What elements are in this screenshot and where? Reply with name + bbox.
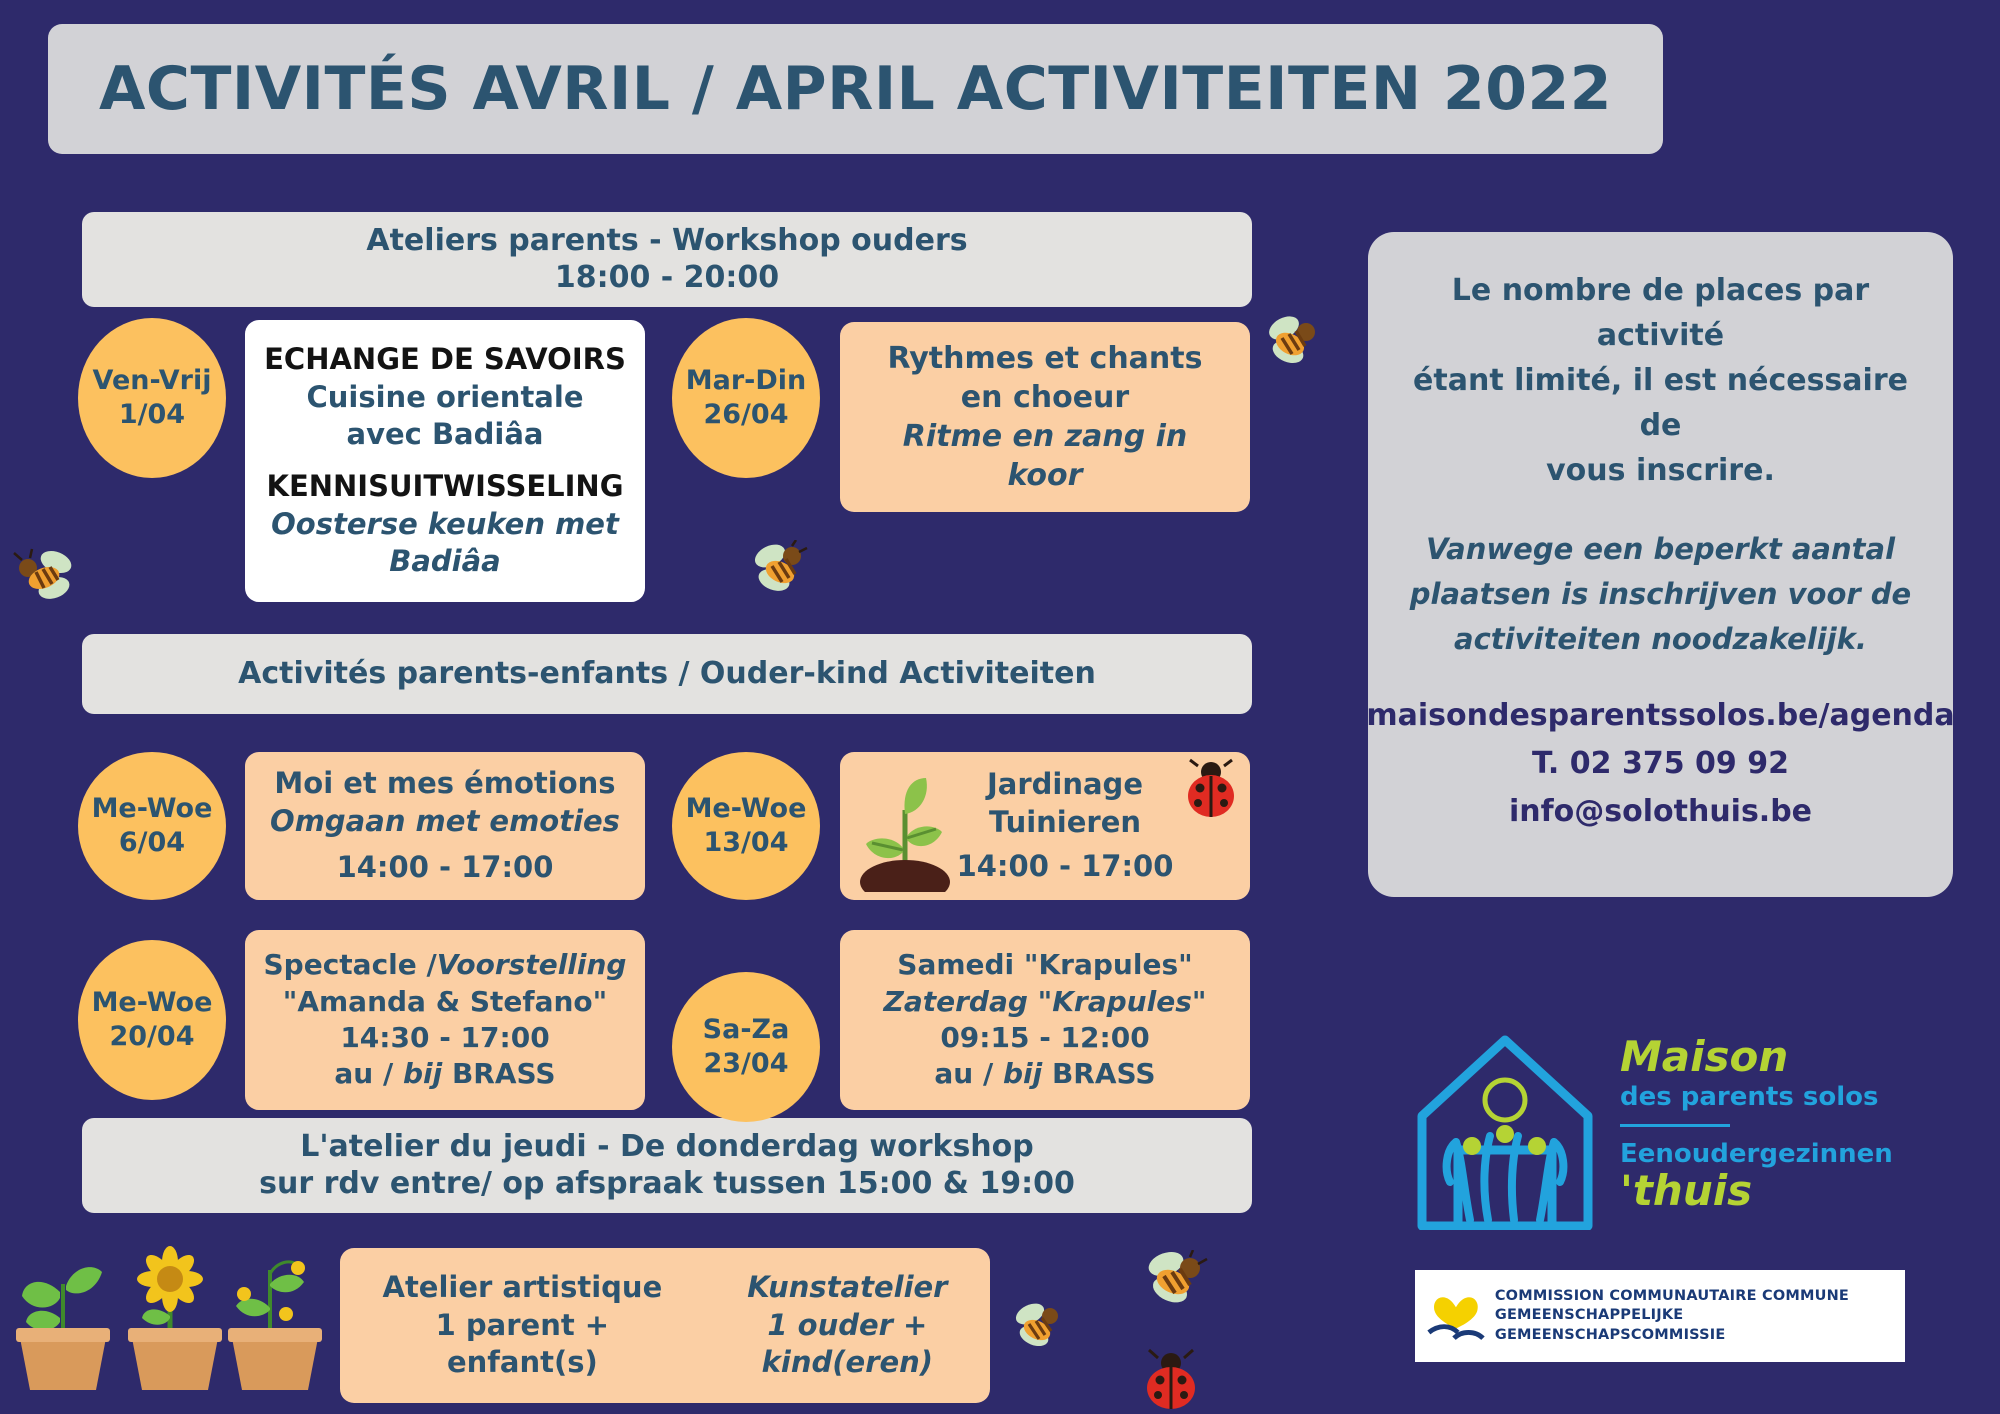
card-emotions-nl-line1: Omgaan met emoties: [270, 803, 620, 841]
card-artistique-nl-col: Kunstatelier 1 ouder + kind(eren): [747, 1269, 947, 1382]
card-rythmes-nl-line1: Ritme en zang in: [903, 417, 1188, 456]
card-artistique-fr-line3: enfant(s): [447, 1344, 598, 1382]
card-artistique-nl-line2: 1 ouder +: [767, 1307, 927, 1345]
card-jardinage-time: 14:00 - 17:00: [957, 848, 1174, 886]
card-krapules-fr-line1: Samedi "Krapules": [897, 947, 1192, 983]
info-fr-line2: étant limité, il est nécessaire de: [1394, 358, 1927, 448]
section-header-jeudi-line1: L'atelier du jeudi - De donderdag worksh…: [300, 1129, 1034, 1166]
info-panel-fr: Le nombre de places par activité étant l…: [1394, 268, 1927, 493]
info-fr-line3: vous inscrire.: [1394, 448, 1927, 493]
card-spectacle-nl-inline: Voorstelling: [437, 948, 627, 981]
info-nl-line2: plaatsen is inschrijven voor de: [1410, 572, 1911, 617]
ccc-logo-text: COMMISSION COMMUNAUTAIRE COMMUNE GEMEENS…: [1495, 1287, 1905, 1346]
date-badge-day: Me-Woe: [92, 792, 213, 826]
card-krapules: Samedi "Krapules" Zaterdag "Krapules" 09…: [840, 930, 1250, 1110]
ccc-emblem-icon: [1425, 1285, 1487, 1347]
card-rythmes-nl-line2: koor: [1008, 456, 1083, 495]
date-badge-date: 13/04: [703, 826, 788, 860]
card-spectacle-venue-nl: bij: [403, 1057, 442, 1090]
date-badge-23-04: Sa-Za 23/04: [672, 972, 820, 1122]
section-header-parents: Ateliers parents - Workshop ouders 18:00…: [82, 212, 1252, 307]
bee-icon: [752, 540, 816, 598]
date-badge-date: 6/04: [119, 826, 185, 860]
ccc-line1: COMMISSION COMMUNAUTAIRE COMMUNE: [1495, 1287, 1905, 1307]
card-emotions-fr-line1: Moi et mes émotions: [274, 765, 615, 803]
info-contact-block: maisondesparentssolos.be/agenda T. 02 37…: [1366, 692, 1954, 836]
logo-eenoudergezinnen: Eenoudergezinnen: [1620, 1139, 1930, 1169]
card-artistique-fr-line1: Atelier artistique: [383, 1269, 663, 1307]
card-echange-nl-line1: Oosterse keuken met: [271, 506, 619, 544]
card-krapules-venue-nl: bij: [1003, 1057, 1042, 1090]
card-artistique-nl-line3: kind(eren): [762, 1344, 933, 1382]
logo-maison: Maison: [1620, 1036, 1930, 1078]
potted-plants-decoration: [10, 1240, 330, 1400]
card-echange-fr-line1: Cuisine orientale: [306, 379, 583, 417]
date-badge-20-04: Me-Woe 20/04: [78, 940, 226, 1100]
card-artistique-nl-line1: Kunstatelier: [747, 1269, 947, 1307]
date-badge-date: 26/04: [703, 398, 788, 432]
card-moi-et-mes-emotions: Moi et mes émotions Omgaan met emoties 1…: [245, 752, 645, 900]
bee-icon: [1010, 1300, 1070, 1354]
section-header-parents-enfants: Activités parents-enfants / Ouder-kind A…: [82, 634, 1252, 714]
date-badge-date: 23/04: [703, 1047, 788, 1081]
brand-logo-text: Maison des parents solos Eenoudergezinne…: [1620, 1036, 1930, 1213]
logo-des-parents-solos: des parents solos: [1620, 1082, 1930, 1112]
date-badge-13-04: Me-Woe 13/04: [672, 752, 820, 900]
card-atelier-artistique: Atelier artistique 1 parent + enfant(s) …: [340, 1248, 990, 1403]
section-header-parents-line1: Ateliers parents - Workshop ouders: [366, 223, 967, 260]
card-spectacle-fr-line1: Spectacle /: [264, 948, 437, 981]
date-badge-6-04: Me-Woe 6/04: [78, 752, 226, 900]
bee-icon: [1140, 1250, 1212, 1312]
card-jardinage-fr-line1: Jardinage: [987, 766, 1143, 804]
poster-canvas: ACTIVITÉS AVRIL / APRIL ACTIVITEITEN 202…: [0, 0, 2000, 1414]
email-link[interactable]: info@solothuis.be: [1366, 788, 1954, 836]
page-title: ACTIVITÉS AVRIL / APRIL ACTIVITEITEN 202…: [99, 54, 1612, 124]
card-krapules-venue-name: BRASS: [1042, 1057, 1155, 1090]
ladybug-icon: [1138, 1348, 1204, 1410]
ccc-logo-box: COMMISSION COMMUNAUTAIRE COMMUNE GEMEENS…: [1415, 1270, 1905, 1362]
poster-title-bar: ACTIVITÉS AVRIL / APRIL ACTIVITEITEN 202…: [48, 24, 1663, 154]
card-krapules-nl-line1: Zaterdag "Krapules": [884, 984, 1207, 1020]
info-fr-line1: Le nombre de places par activité: [1394, 268, 1927, 358]
date-badge-date: 20/04: [109, 1020, 194, 1054]
card-echange-fr-title: ECHANGE DE SAVOIRS: [264, 341, 626, 379]
ccc-line2: GEMEENSCHAPPELIJKE GEMEENSCHAPSCOMMISSIE: [1495, 1306, 1905, 1345]
info-panel: Le nombre de places par activité étant l…: [1368, 232, 1953, 897]
info-panel-nl: Vanwege een beperkt aantal plaatsen is i…: [1410, 527, 1911, 662]
section-header-pe-line1: Activités parents-enfants / Ouder-kind A…: [238, 656, 1096, 693]
card-krapules-time: 09:15 - 12:00: [940, 1020, 1149, 1056]
card-rythmes-fr-line1: Rythmes et chants: [888, 339, 1203, 378]
date-badge-day: Me-Woe: [92, 986, 213, 1020]
card-spectacle: Spectacle /Voorstelling "Amanda & Stefan…: [245, 930, 645, 1110]
card-spectacle-line2: "Amanda & Stefano": [283, 984, 608, 1020]
card-jardinage-nl-line1: Tuinieren: [989, 804, 1141, 842]
date-badge-day: Sa-Za: [703, 1013, 790, 1047]
date-badge-day: Me-Woe: [686, 792, 807, 826]
bee-icon: [10, 548, 76, 606]
section-header-jeudi: L'atelier du jeudi - De donderdag worksh…: [82, 1118, 1252, 1213]
card-spectacle-venue-name: BRASS: [442, 1057, 555, 1090]
house-family-icon: [1410, 1030, 1600, 1230]
date-badge-1-04: Ven-Vrij 1/04: [78, 318, 226, 478]
card-echange-de-savoirs: ECHANGE DE SAVOIRS Cuisine orientale ave…: [245, 320, 645, 602]
bee-icon: [1262, 312, 1324, 368]
card-spectacle-venue-fr: au /: [334, 1057, 403, 1090]
card-echange-nl-line2: Badiâa: [389, 543, 501, 581]
card-rythmes-fr-line2: en choeur: [961, 378, 1129, 417]
website-link[interactable]: maisondesparentssolos.be/agenda: [1366, 692, 1954, 740]
ladybug-icon: [1178, 758, 1244, 820]
card-artistique-fr-line2: 1 parent +: [436, 1307, 609, 1345]
card-spectacle-time: 14:30 - 17:00: [340, 1020, 549, 1056]
logo-divider: [1620, 1124, 1730, 1127]
card-echange-nl-title: KENNISUITWISSELING: [266, 468, 623, 506]
card-echange-fr-line2: avec Badiâa: [347, 416, 544, 454]
card-artistique-fr-col: Atelier artistique 1 parent + enfant(s): [383, 1269, 663, 1382]
info-nl-line3: activiteiten noodzakelijk.: [1410, 617, 1911, 662]
seedling-icon: [850, 774, 960, 892]
section-header-jeudi-line2: sur rdv entre/ op afspraak tussen 15:00 …: [259, 1166, 1075, 1203]
logo-thuis: 'thuis: [1620, 1169, 1930, 1213]
brand-logo: Maison des parents solos Eenoudergezinne…: [1410, 1030, 1930, 1280]
date-badge-day: Mar-Din: [686, 364, 807, 398]
date-badge-day: Ven-Vrij: [93, 364, 212, 398]
phone-number[interactable]: T. 02 375 09 92: [1366, 740, 1954, 788]
date-badge-date: 1/04: [119, 398, 185, 432]
section-header-parents-line2: 18:00 - 20:00: [555, 260, 779, 297]
card-jardinage: Jardinage Tuinieren 14:00 - 17:00: [840, 752, 1250, 900]
date-badge-26-04: Mar-Din 26/04: [672, 318, 820, 478]
info-nl-line1: Vanwege een beperkt aantal: [1410, 527, 1911, 572]
card-krapules-venue-fr: au /: [934, 1057, 1003, 1090]
card-rythmes-et-chants: Rythmes et chants en choeur Ritme en zan…: [840, 322, 1250, 512]
card-emotions-time: 14:00 - 17:00: [337, 849, 554, 887]
